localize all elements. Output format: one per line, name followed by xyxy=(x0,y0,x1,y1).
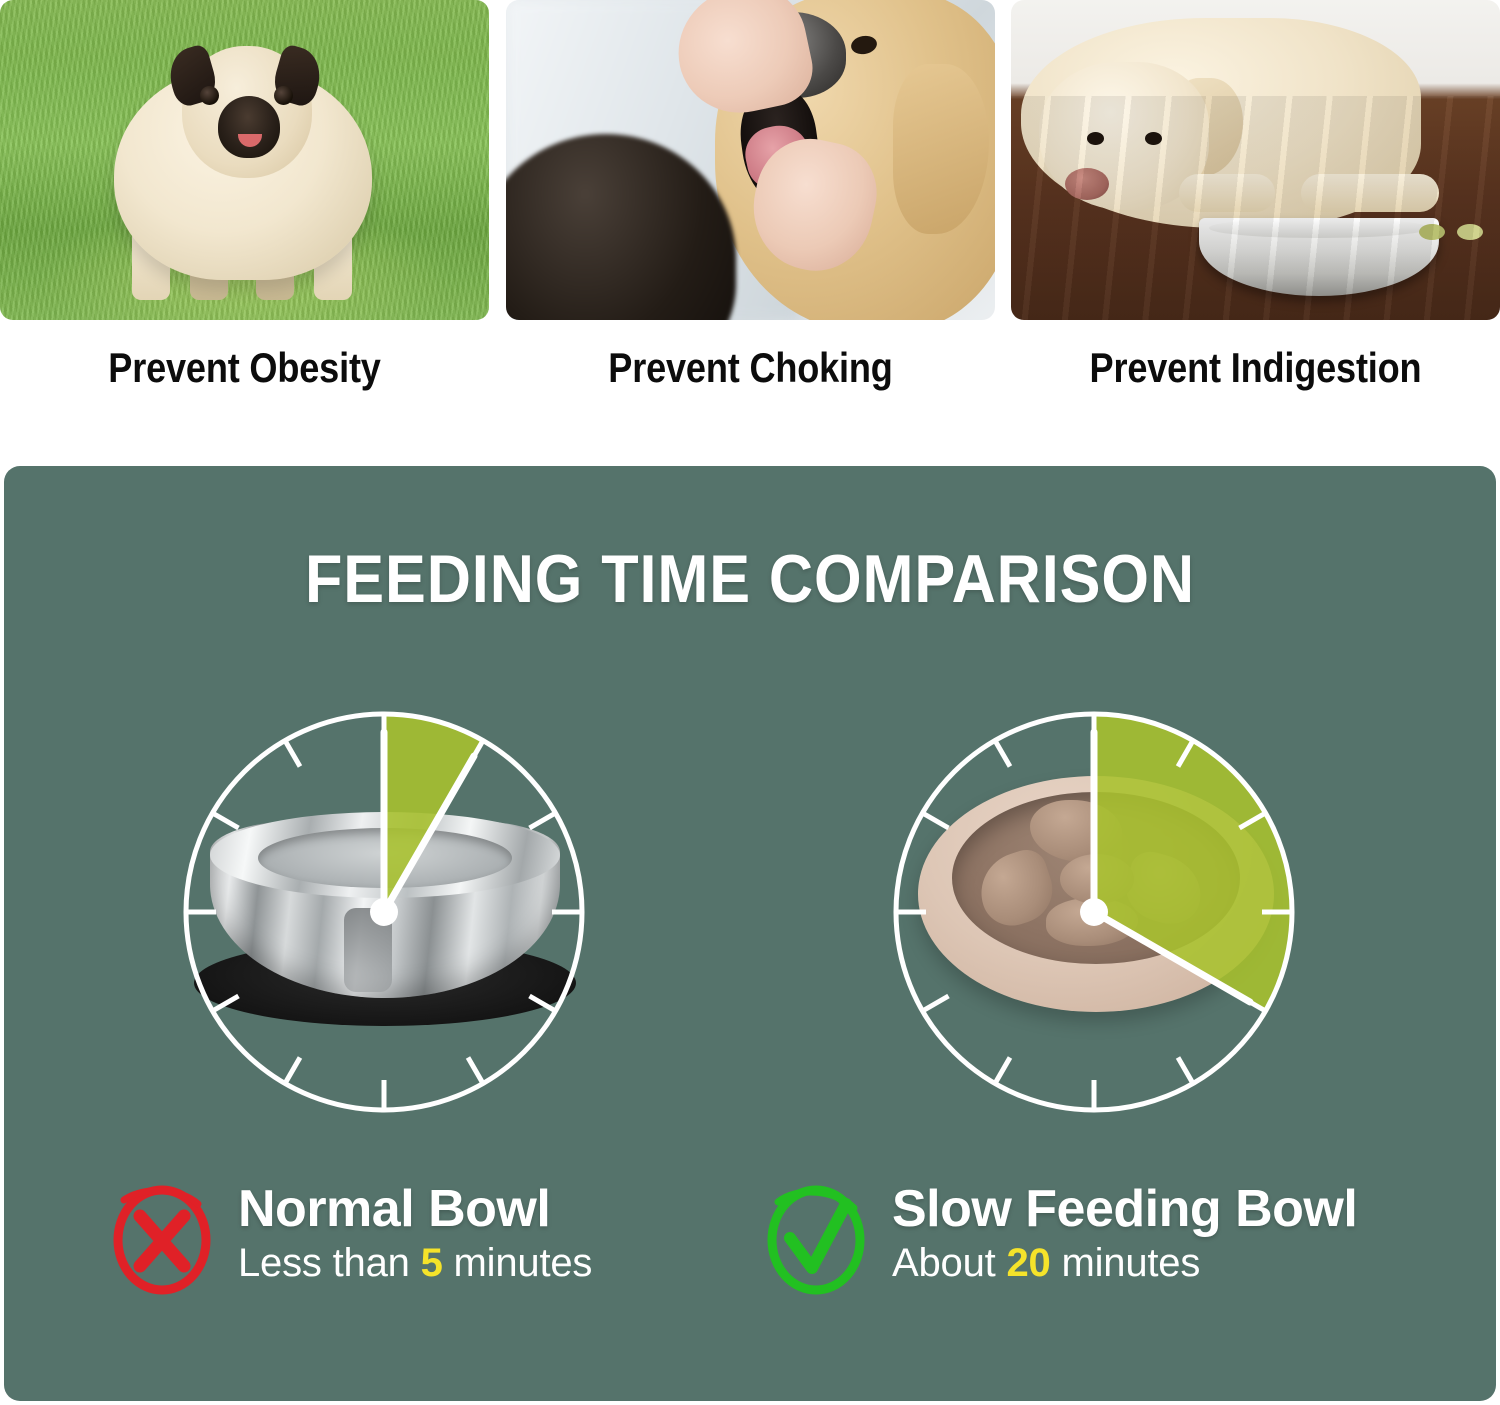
photo-lab-beside-bowl xyxy=(1011,0,1500,320)
benefit-card-indigestion: Prevent Indigestion xyxy=(1011,0,1500,452)
benefits-strip: Prevent Obesity Prevent Choking xyxy=(0,0,1500,452)
labrador-head xyxy=(1039,62,1209,210)
result-subtitle: Less than 5 minutes xyxy=(238,1238,750,1288)
photo-overweight-pug xyxy=(0,0,489,320)
feeding-time-comparison-panel: FEEDING TIME COMPARISON xyxy=(4,466,1496,1401)
result-sub-prefix: About xyxy=(892,1241,1006,1285)
pug-eye xyxy=(274,86,293,105)
result-sub-suffix: minutes xyxy=(1051,1241,1201,1285)
result-sub-number: 20 xyxy=(1006,1241,1050,1285)
labrador-nose xyxy=(1065,168,1109,200)
labrador-body xyxy=(1021,18,1421,228)
result-sub-suffix: minutes xyxy=(443,1241,593,1285)
clock-dial-slow xyxy=(874,692,1314,1132)
pug-eye xyxy=(200,86,219,105)
labrador-paw xyxy=(1301,174,1439,212)
kibble xyxy=(1457,224,1483,240)
result-sub-number: 5 xyxy=(421,1241,443,1285)
result-title: Slow Feeding Bowl xyxy=(892,1180,1484,1238)
labrador-paw xyxy=(1179,174,1275,212)
result-normal-bowl: Normal Bowl Less than 5 minutes xyxy=(110,1180,750,1300)
wood-floor-background xyxy=(1011,0,1500,320)
clock-center-pin xyxy=(1080,898,1108,926)
result-sub-prefix: Less than xyxy=(238,1241,421,1285)
labrador-eye xyxy=(1145,132,1162,145)
result-text-block: Slow Feeding Bowl About 20 minutes xyxy=(892,1180,1484,1288)
benefit-card-obesity: Prevent Obesity xyxy=(0,0,489,452)
steel-food-bowl xyxy=(1199,218,1439,296)
clock-center-pin xyxy=(370,898,398,926)
clock-dial-normal xyxy=(164,692,604,1132)
check-circle-icon xyxy=(764,1184,868,1296)
result-title: Normal Bowl xyxy=(238,1180,750,1238)
benefit-caption: Prevent Obesity xyxy=(34,344,455,392)
cross-circle-icon xyxy=(110,1184,214,1296)
clock-normal-bowl xyxy=(164,692,604,1132)
benefit-caption: Prevent Indigestion xyxy=(1045,344,1466,392)
result-subtitle: About 20 minutes xyxy=(892,1238,1484,1288)
benefit-card-choking: Prevent Choking xyxy=(506,0,995,452)
pug-illustration xyxy=(108,30,378,302)
clock-slow-feeding-bowl xyxy=(874,692,1314,1132)
labrador-eye xyxy=(1087,132,1104,145)
vet-scene-background xyxy=(506,0,995,320)
page-title: FEEDING TIME COMPARISON xyxy=(79,540,1422,618)
benefit-caption: Prevent Choking xyxy=(540,344,961,392)
pug-muzzle xyxy=(218,96,280,158)
result-text-block: Normal Bowl Less than 5 minutes xyxy=(238,1180,750,1288)
result-slow-feeding-bowl: Slow Feeding Bowl About 20 minutes xyxy=(764,1180,1484,1300)
photo-dog-mouth-check xyxy=(506,0,995,320)
kibble xyxy=(1419,224,1445,240)
